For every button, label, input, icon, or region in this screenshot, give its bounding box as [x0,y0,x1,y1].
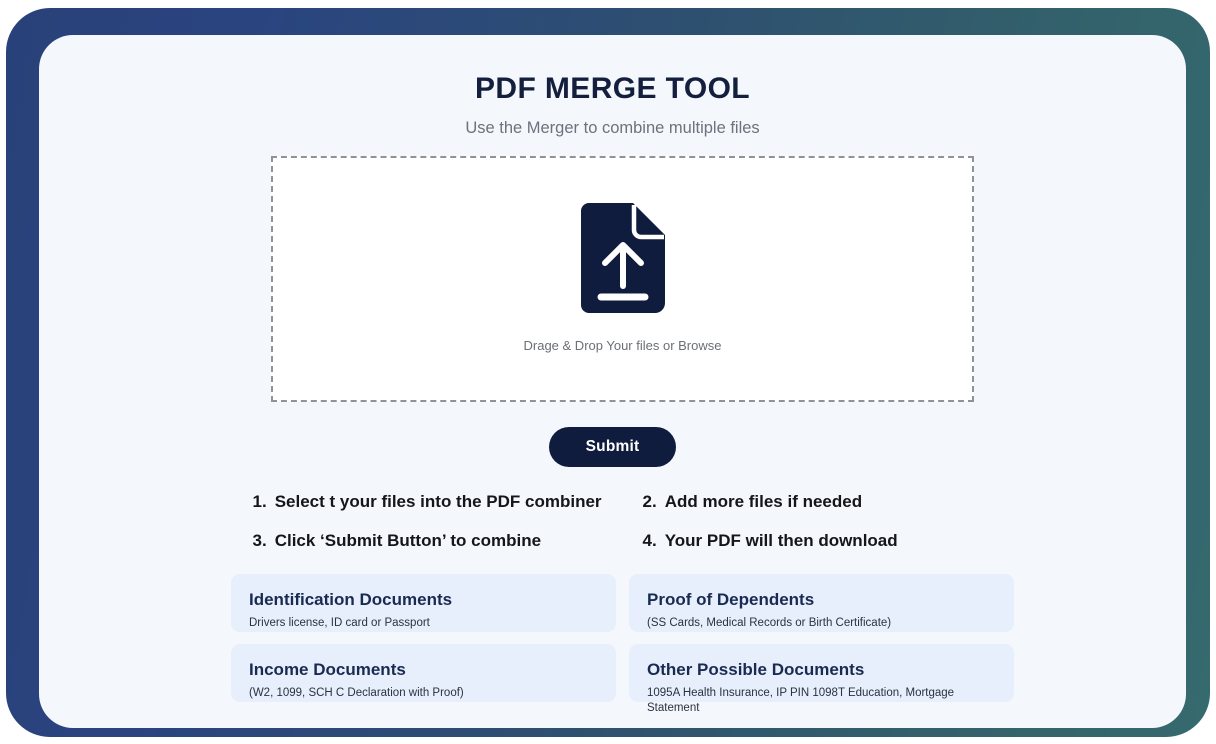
doc-card-subtitle: (W2, 1099, SCH C Declaration with Proof) [249,686,598,701]
page-title: PDF MERGE TOOL [39,71,1186,107]
instruction-steps: 1. Select t your files into the PDF comb… [39,491,1186,553]
step-number: 4. [643,530,657,553]
page-content: PDF MERGE TOOL Use the Merger to combine… [39,35,1186,728]
file-upload-icon [581,203,665,318]
doc-card-other[interactable]: Other Possible Documents 1095A Health In… [629,644,1014,702]
step-text: Your PDF will then download [665,530,898,553]
step-text: Add more files if needed [665,491,862,514]
step-text: Select t your files into the PDF combine… [275,491,602,514]
doc-card-dependents[interactable]: Proof of Dependents (SS Cards, Medical R… [629,574,1014,632]
doc-card-title: Income Documents [249,659,598,680]
doc-card-subtitle: Drivers license, ID card or Passport [249,616,598,631]
doc-card-identification[interactable]: Identification Documents Drivers license… [231,574,616,632]
document-category-cards: Identification Documents Drivers license… [231,574,1014,702]
step-item: 4. Your PDF will then download [643,530,973,553]
step-text: Click ‘Submit Button’ to combine [275,530,541,553]
step-number: 2. [643,491,657,514]
step-number: 1. [253,491,267,514]
app-window-frame: PDF MERGE TOOL Use the Merger to combine… [6,8,1210,737]
submit-row: Submit [39,427,1186,467]
doc-card-subtitle: (SS Cards, Medical Records or Birth Cert… [647,616,996,631]
submit-button[interactable]: Submit [549,427,676,467]
page-subtitle: Use the Merger to combine multiple files [39,118,1186,139]
page-container: PDF MERGE TOOL Use the Merger to combine… [39,35,1186,728]
file-dropzone[interactable]: Drage & Drop Your files or Browse [271,156,974,402]
doc-card-title: Identification Documents [249,589,598,610]
step-item: 3. Click ‘Submit Button’ to combine [253,530,643,553]
step-item: 2. Add more files if needed [643,491,973,514]
step-number: 3. [253,530,267,553]
dropzone-label: Drage & Drop Your files or Browse [524,338,722,355]
step-item: 1. Select t your files into the PDF comb… [253,491,643,514]
doc-card-title: Other Possible Documents [647,659,996,680]
doc-card-income[interactable]: Income Documents (W2, 1099, SCH C Declar… [231,644,616,702]
doc-card-title: Proof of Dependents [647,589,996,610]
doc-card-subtitle: 1095A Health Insurance, IP PIN 1098T Edu… [647,686,996,716]
